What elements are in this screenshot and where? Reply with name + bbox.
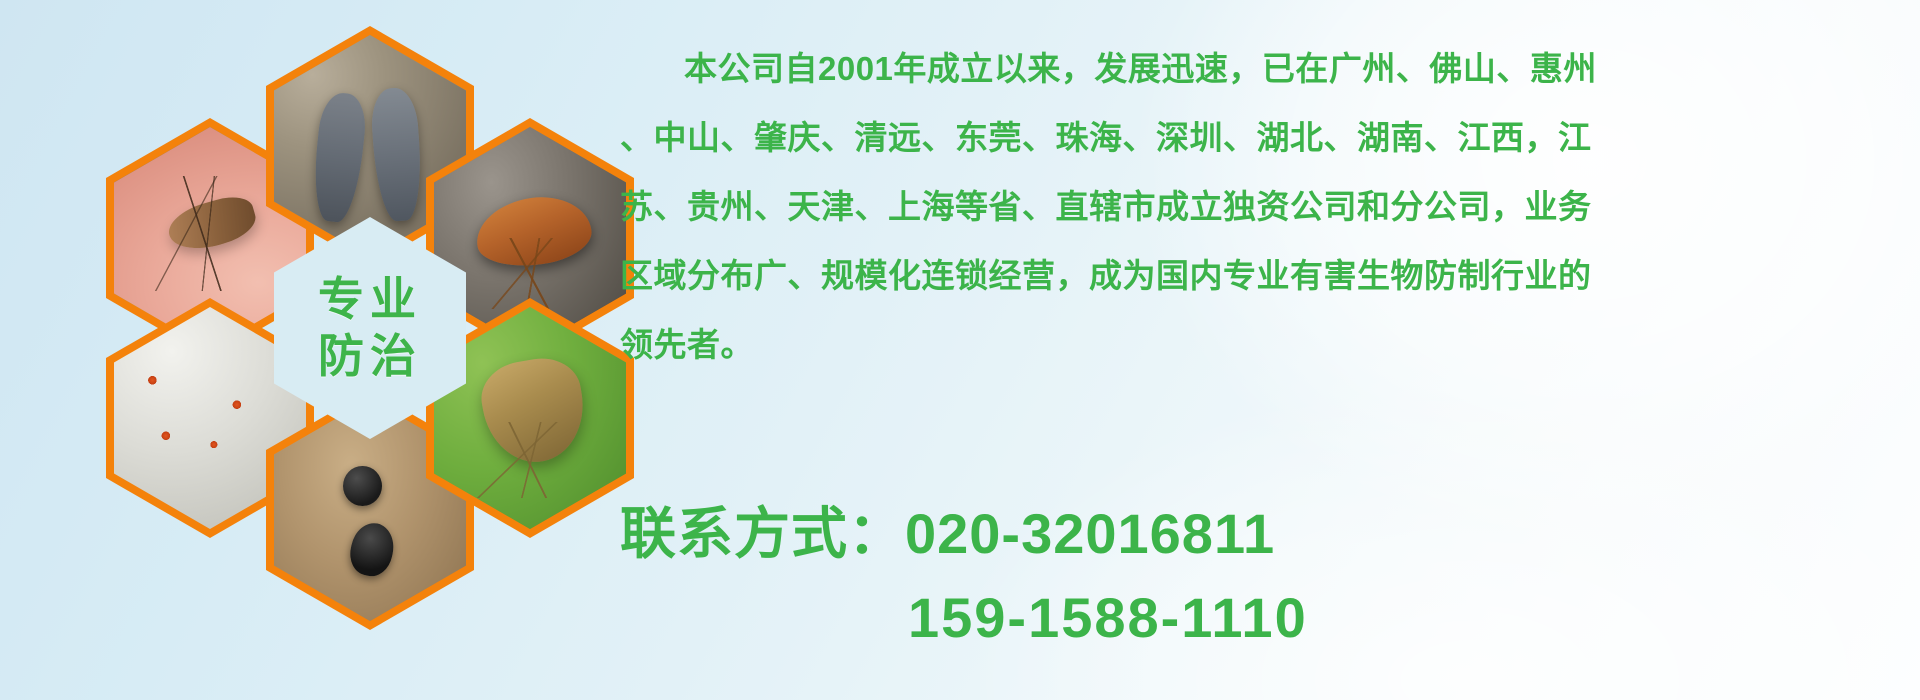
- company-intro-paragraph: 本公司自2001年成立以来，发展迅速，已在广州、佛山、惠州 、中山、肇庆、清远、…: [620, 34, 1902, 379]
- intro-line-4: 区域分布广、规模化连锁经营，成为国内专业有害生物防制行业的: [620, 241, 1902, 310]
- contact-secondary-phone[interactable]: 159-1588-1110: [620, 576, 1902, 660]
- intro-line-1: 本公司自2001年成立以来，发展迅速，已在广州、佛山、惠州: [620, 34, 1902, 103]
- honeycomb-center-label-line1: 专业: [318, 273, 422, 325]
- honeycomb-collage: 专业 防治: [88, 8, 588, 568]
- honeycomb-center-label: 专业 防治: [318, 271, 422, 386]
- promo-banner: 专业 防治 本公司自2001年成立以来，发展迅速，已在广州、佛山、惠州 、中山、…: [0, 0, 1920, 700]
- contact-primary-line[interactable]: 联系方式：020-32016811: [620, 492, 1902, 576]
- intro-line-2: 、中山、肇庆、清远、东莞、珠海、深圳、湖北、湖南、江西，江: [620, 103, 1902, 172]
- intro-line-5: 领先者。: [620, 310, 1902, 379]
- hex-inner: 专业 防治: [274, 217, 466, 439]
- intro-line-3: 苏、贵州、天津、上海等省、直辖市成立独资公司和分公司，业务: [620, 172, 1902, 241]
- honeycomb-center-label-line2: 防治: [318, 330, 422, 382]
- banner-content: 本公司自2001年成立以来，发展迅速，已在广州、佛山、惠州 、中山、肇庆、清远、…: [620, 0, 1910, 700]
- contact-block: 联系方式：020-32016811 159-1588-1110: [620, 492, 1902, 660]
